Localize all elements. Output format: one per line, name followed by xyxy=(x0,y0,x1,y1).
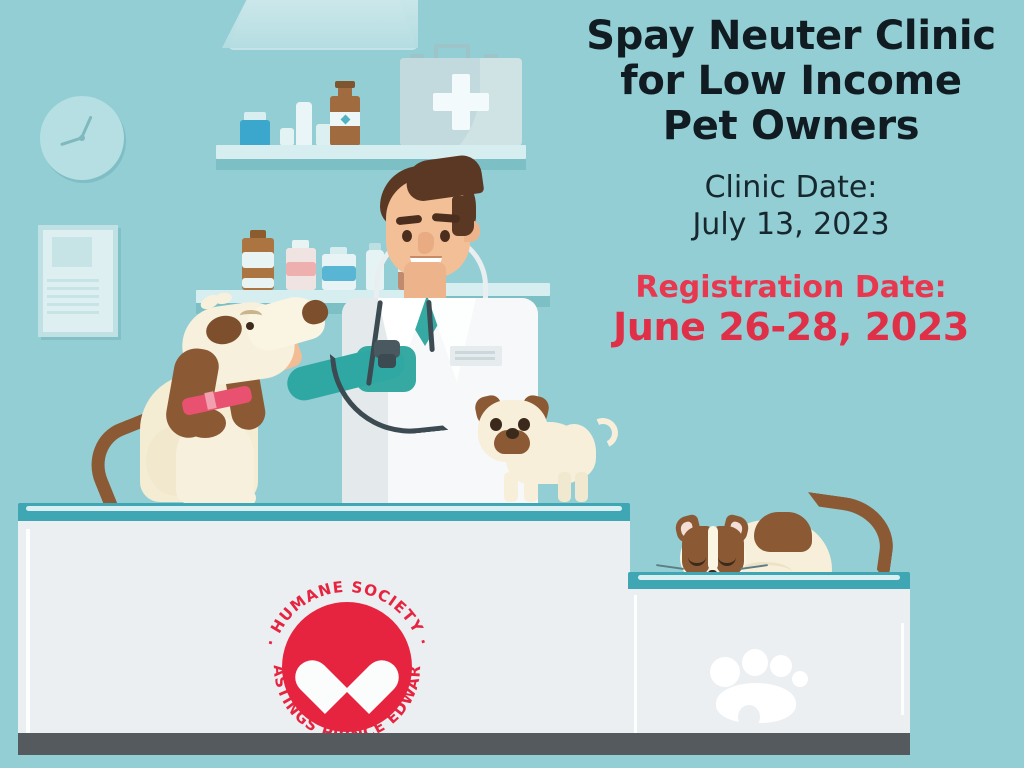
floor-strip xyxy=(18,733,910,755)
white-bottle-small xyxy=(280,128,294,146)
pug-front-leg-2 xyxy=(524,472,538,502)
cat-face-blaze xyxy=(708,526,718,570)
headline-line-3: Pet Owners xyxy=(572,104,1010,149)
paw-toe-3 xyxy=(770,655,792,677)
side-counter-highlight xyxy=(638,575,900,580)
clinic-date-label: Clinic Date: xyxy=(572,170,1010,207)
paw-pad-notch xyxy=(738,705,760,729)
bottle-cap xyxy=(335,81,355,88)
brown-jar-label-lower xyxy=(242,278,274,288)
brown-medicine-bottle xyxy=(330,96,360,146)
brown-jar-label xyxy=(242,252,274,268)
first-aid-kit-icon xyxy=(400,58,522,146)
vet-name-badge xyxy=(450,346,502,366)
pug-dog xyxy=(460,392,608,512)
poster-text-line xyxy=(47,287,99,290)
registration-date-label: Registration Date: xyxy=(572,270,1010,306)
bottle-label-diamond xyxy=(341,115,351,125)
cat-face-mask-left xyxy=(682,526,710,576)
heart-icon xyxy=(315,638,379,696)
bottle-label xyxy=(330,112,360,126)
stethoscope-bell-base xyxy=(378,354,396,368)
wall-clock-icon xyxy=(40,96,124,180)
clinic-date-block: Clinic Date: July 13, 2023 xyxy=(572,170,1010,243)
registration-date-value: June 26-28, 2023 xyxy=(572,306,1010,350)
dog-large xyxy=(96,296,326,511)
vet-eye-right xyxy=(440,230,450,242)
page-title: Spay Neuter Clinic for Low Income Pet Ow… xyxy=(572,14,1010,148)
badge-text-lines xyxy=(455,351,495,354)
paw-toe-1 xyxy=(710,657,740,687)
poster-text-line xyxy=(47,303,99,306)
poster-text-line xyxy=(47,295,99,298)
clinic-date-value: July 13, 2023 xyxy=(572,207,1010,244)
paw-toe-2 xyxy=(742,649,768,676)
exam-table-highlight xyxy=(26,506,622,511)
blue-jar xyxy=(240,120,270,146)
clock-center-pin xyxy=(79,135,85,141)
headline-line-1: Spay Neuter Clinic xyxy=(572,14,1010,59)
exam-table-top xyxy=(18,503,630,523)
poster-text-block: Spay Neuter Clinic for Low Income Pet Ow… xyxy=(572,14,1010,349)
pug-front-leg-1 xyxy=(504,472,518,502)
poster-text-line xyxy=(47,279,99,282)
headline-line-2: for Low Income xyxy=(572,59,1010,104)
dog-eye xyxy=(246,322,254,330)
pug-hind-leg-2 xyxy=(575,472,588,502)
cat-back-patch xyxy=(754,512,812,552)
poster-text-line xyxy=(47,311,99,314)
vet-eye-left xyxy=(402,230,412,242)
side-counter-edge-left xyxy=(634,595,637,733)
pug-eye-left xyxy=(490,418,502,431)
exam-table-edge xyxy=(26,529,30,733)
poster-canvas: · HUMANE SOCIETY · HASTINGS PRINCE EDWAR… xyxy=(0,0,1024,768)
paw-print-icon xyxy=(700,645,820,725)
ceiling-lamp-glow xyxy=(222,0,418,48)
white-bottle-tall xyxy=(296,102,312,146)
first-aid-kit-handle xyxy=(434,44,470,59)
poster-image-area xyxy=(52,237,92,267)
pug-hind-leg-1 xyxy=(558,472,571,502)
pug-eye-right xyxy=(518,418,530,431)
paw-toe-4 xyxy=(792,671,808,687)
side-counter-edge-right xyxy=(901,623,904,715)
pug-nose xyxy=(506,428,519,439)
dog-brow xyxy=(240,310,262,321)
medical-cross-horizontal xyxy=(433,93,489,111)
